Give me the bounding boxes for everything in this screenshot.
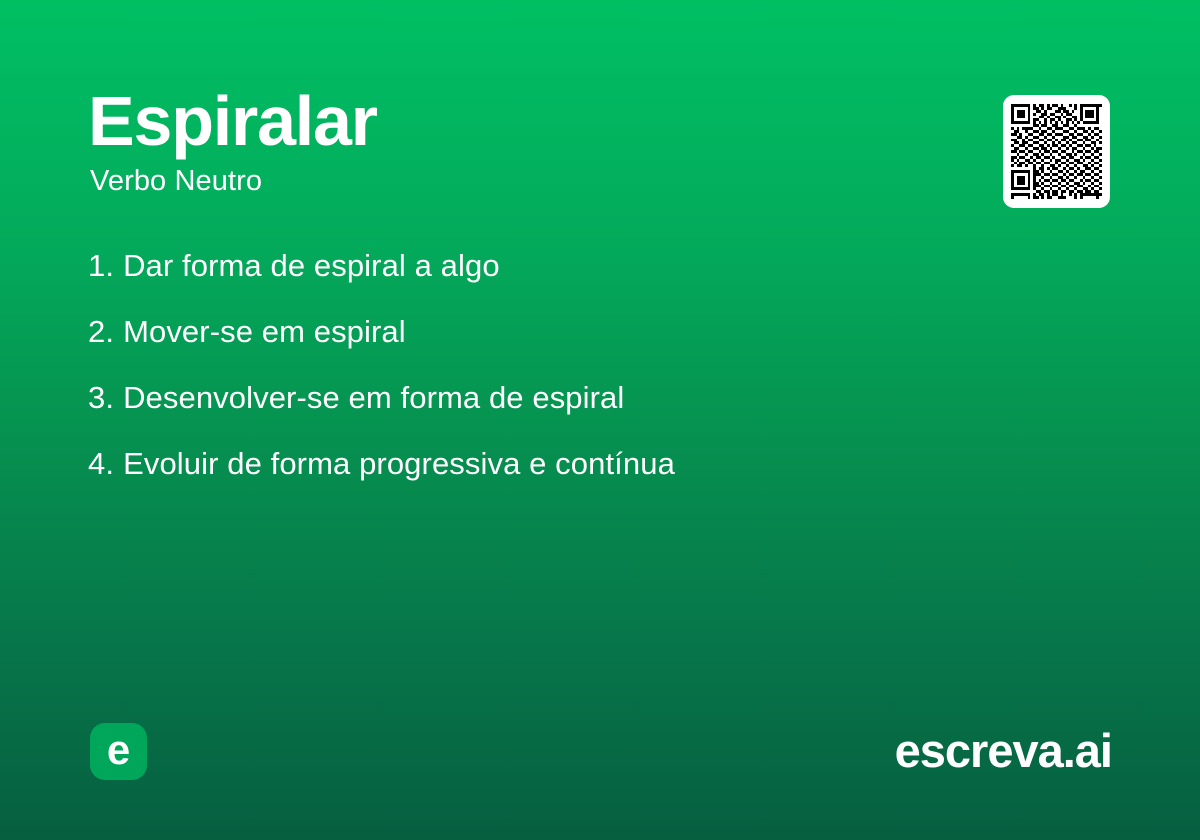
definition-text: Dar forma de espiral a algo [123,246,500,286]
definition-text: Desenvolver-se em forma de espiral [123,378,624,418]
qr-code-icon[interactable] [1003,95,1110,208]
word-class-label: Verbo Neutro [90,167,262,196]
definition-index: 4. [88,444,114,484]
definition-index: 1. [88,246,114,286]
definition-index: 3. [88,378,114,418]
definition-text: Evoluir de forma progressiva e contínua [123,444,675,484]
list-item: 1. Dar forma de espiral a algo [88,246,948,312]
list-item: 4. Evoluir de forma progressiva e contín… [88,444,948,510]
definition-list: 1. Dar forma de espiral a algo 2. Mover-… [88,246,948,510]
list-item: 3. Desenvolver-se em forma de espiral [88,378,948,444]
definition-text: Mover-se em espiral [123,312,406,352]
dictionary-card: Espiralar Verbo Neutro 1. Dar forma de e… [0,0,1200,840]
qr-code-modules [1011,104,1102,199]
brand-wordmark: escreva.ai [895,727,1112,774]
escreva-logo-letter: e [107,729,130,771]
page-title: Espiralar [88,86,377,156]
definition-index: 2. [88,312,114,352]
list-item: 2. Mover-se em espiral [88,312,948,378]
escreva-logo: e [90,723,147,780]
